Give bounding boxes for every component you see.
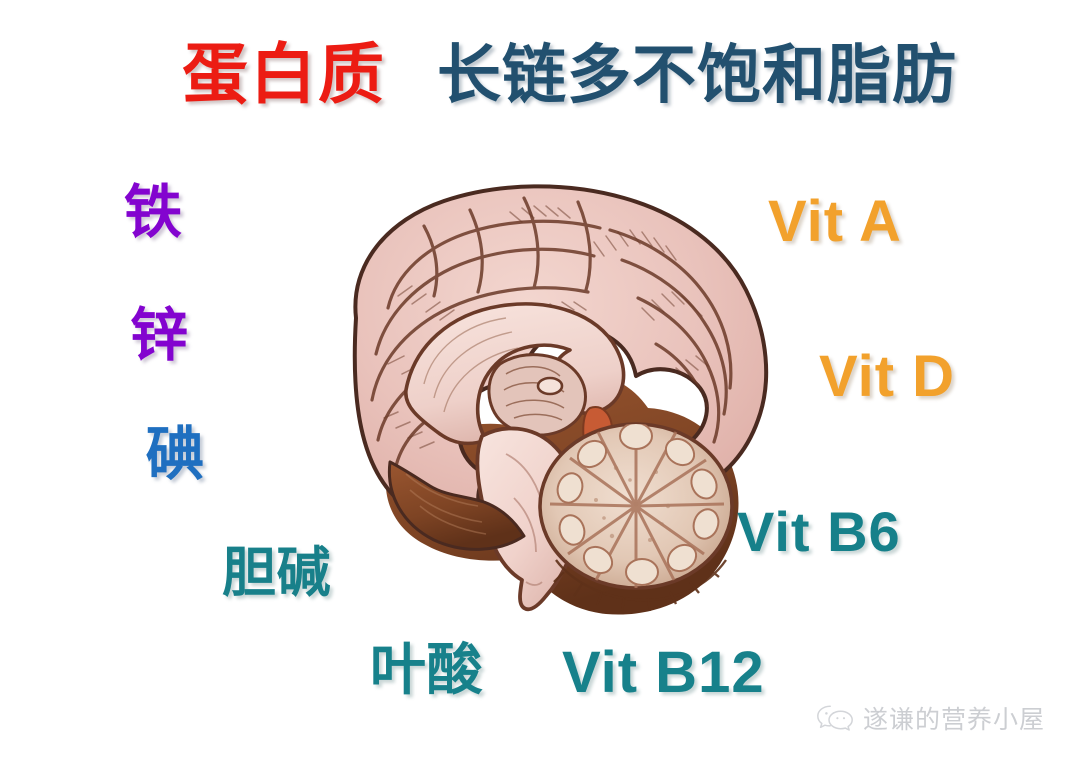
label-vitamin-a: Vit A [768,193,902,251]
title-long-chain-pufa: 长链多不饱和脂肪 [437,44,957,108]
label-iodine: 碘 [146,425,205,483]
label-vitamin-b12: Vit B12 [562,644,765,702]
label-vitamin-b6: Vit B6 [737,504,901,560]
label-zinc: 锌 [130,306,189,364]
foramen [538,378,562,394]
label-vitamin-d: Vit D [819,348,955,406]
label-folate: 叶酸 [370,643,483,699]
label-iron: 铁 [124,183,183,241]
wechat-logo-icon [816,703,854,733]
wechat-watermark: 遂谦的营养小屋 [816,700,1045,736]
label-choline: 胆碱 [222,546,331,600]
wechat-account-name: 遂谦的营养小屋 [863,700,1045,736]
poster-canvas: 蛋白质 长链多不饱和脂肪 [0,0,1080,761]
title-protein: 蛋白质 [182,42,386,108]
